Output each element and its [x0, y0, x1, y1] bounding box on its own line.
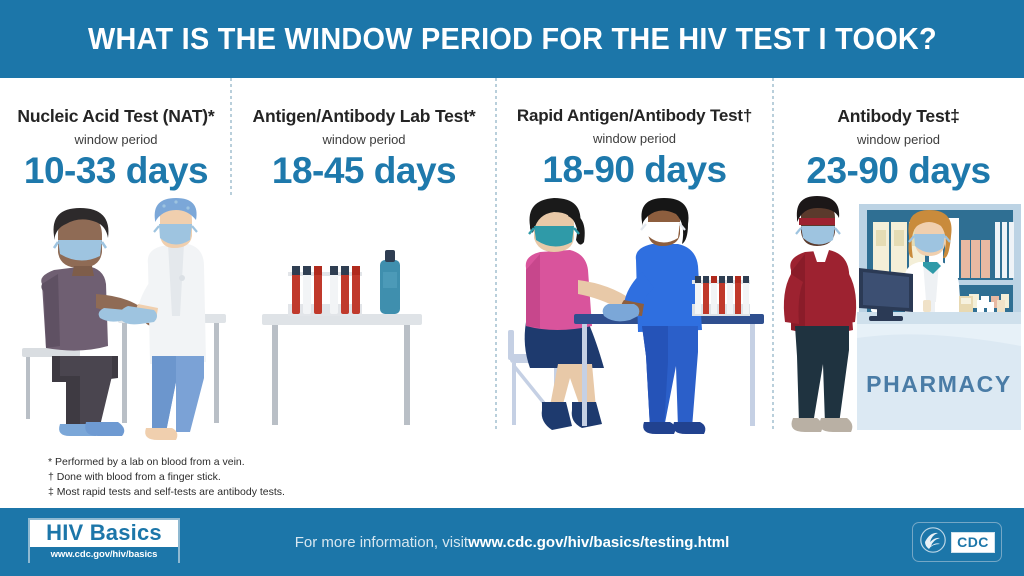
test-columns: Nucleic Acid Test (NAT)* window period 1…: [0, 78, 1024, 446]
hiv-basics-logo[interactable]: HIV Basics www.cdc.gov/hiv/basics: [28, 518, 180, 563]
hiv-basics-url: www.cdc.gov/hiv/basics: [30, 547, 178, 563]
cdc-agency-logo[interactable]: CDC: [912, 522, 1002, 562]
column-header: Antibody Test‡ window period 23-90 days: [773, 78, 1024, 192]
hiv-basics-title: HIV Basics: [30, 520, 178, 547]
window-period-value: 18-90 days: [496, 149, 773, 191]
pharmacy-sign-text: PHARMACY: [866, 371, 1012, 397]
illustration-finger-stick-test: [496, 196, 773, 446]
illustration-pharmacy-counter: PHARMACY: [773, 196, 1024, 446]
window-period-label: window period: [496, 131, 773, 146]
hhs-seal-icon: [919, 526, 947, 559]
test-name: Antigen/Antibody Lab Test*: [232, 106, 496, 127]
column-header: Antigen/Antibody Lab Test* window period…: [232, 78, 496, 192]
footnote-asterisk: * Performed by a lab on blood from a vei…: [48, 455, 285, 470]
page-title: WHAT IS THE WINDOW PERIOD FOR THE HIV TE…: [88, 21, 937, 57]
column-divider-3: [772, 78, 774, 430]
window-period-label: window period: [773, 132, 1024, 147]
window-period-value: 18-45 days: [232, 150, 496, 192]
column-antibody-test: Antibody Test‡ window period 23-90 days: [773, 78, 1024, 446]
footer-bar: For more information, visit www.cdc.gov/…: [0, 508, 1024, 576]
column-nucleic-acid-test: Nucleic Acid Test (NAT)* window period 1…: [0, 78, 232, 446]
window-period-value: 10-33 days: [0, 150, 232, 192]
window-period-label: window period: [0, 132, 232, 147]
window-period-label: window period: [232, 132, 496, 147]
column-header: Rapid Antigen/Antibody Test† window peri…: [496, 78, 773, 191]
test-name: Antibody Test‡: [773, 106, 1024, 127]
footnote-dagger: † Done with blood from a finger stick.: [48, 470, 285, 485]
cdc-wordmark: CDC: [951, 532, 995, 553]
column-header: Nucleic Acid Test (NAT)* window period 1…: [0, 78, 232, 192]
footer-info-url[interactable]: www.cdc.gov/hiv/basics/testing.html: [468, 534, 729, 551]
footer-info-prefix: For more information, visit: [295, 534, 468, 551]
test-name: Rapid Antigen/Antibody Test†: [496, 106, 773, 126]
column-divider-2: [495, 78, 497, 430]
illustration-lab-specimens: [232, 196, 496, 446]
column-divider-1: [230, 78, 232, 196]
column-antigen-antibody-lab-test: Antigen/Antibody Lab Test* window period…: [232, 78, 496, 446]
illustration-blood-draw: [0, 196, 232, 446]
header-bar: WHAT IS THE WINDOW PERIOD FOR THE HIV TE…: [0, 0, 1024, 78]
test-name: Nucleic Acid Test (NAT)*: [0, 106, 232, 127]
footnote-double-dagger: ‡ Most rapid tests and self-tests are an…: [48, 485, 285, 500]
column-rapid-antigen-antibody-test: Rapid Antigen/Antibody Test† window peri…: [496, 78, 773, 446]
window-period-value: 23-90 days: [773, 150, 1024, 192]
footnotes: * Performed by a lab on blood from a vei…: [48, 455, 285, 501]
